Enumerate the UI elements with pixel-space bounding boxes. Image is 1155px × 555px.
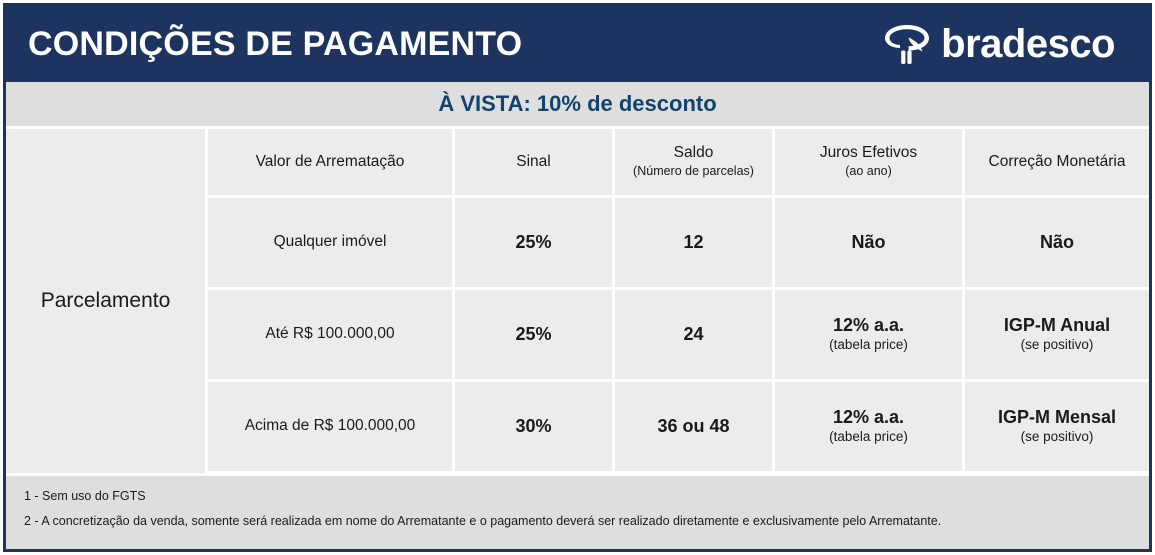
table-row: Até R$ 100.000,00 25% 24 12% a.a. (tabel… (208, 287, 1149, 379)
cell-juros-efetivos: 12% a.a. (tabela price) (772, 382, 962, 471)
cell-juros-efetivos: Não (772, 198, 962, 287)
column-header-main: Sinal (516, 153, 550, 172)
cell-main: Não (851, 232, 885, 254)
table-grid: Valor de Arrematação Sinal Saldo (Número… (208, 129, 1149, 473)
cell-valor-arrematacao: Qualquer imóvel (208, 198, 452, 287)
footnote-1: 1 - Sem uso do FGTS (24, 490, 1131, 504)
cell-juros-efetivos: 12% a.a. (tabela price) (772, 290, 962, 379)
discount-banner-text: À VISTA: 10% de desconto (438, 91, 716, 117)
cell-main: Não (1040, 232, 1074, 254)
discount-banner: À VISTA: 10% de desconto (6, 82, 1149, 129)
conditions-table: Parcelamento Valor de Arrematação Sinal … (6, 129, 1149, 473)
cell-main: 25% (515, 232, 551, 254)
payment-conditions-panel: CONDIÇÕES DE PAGAMENTO bradesco À VISTA:… (0, 0, 1155, 555)
cell-main: IGP-M Anual (1004, 315, 1110, 337)
column-header-sub: (Número de parcelas) (633, 164, 754, 180)
table-row: Acima de R$ 100.000,00 30% 36 ou 48 12% … (208, 379, 1149, 471)
panel-frame: CONDIÇÕES DE PAGAMENTO bradesco À VISTA:… (3, 3, 1152, 552)
cell-sinal: 30% (452, 382, 612, 471)
column-header-correcao-monetaria: Correção Monetária (962, 129, 1149, 195)
cell-main: 25% (515, 324, 551, 346)
bradesco-logo: bradesco (881, 20, 1127, 68)
column-header-sub: (ao ano) (845, 164, 892, 180)
column-header-saldo: Saldo (Número de parcelas) (612, 129, 772, 195)
cell-main: 30% (515, 416, 551, 438)
cell-correcao-monetaria: IGP-M Anual (se positivo) (962, 290, 1149, 379)
column-header-main: Valor de Arrematação (256, 153, 405, 172)
cell-main: 12 (683, 232, 703, 254)
column-header-main: Correção Monetária (989, 153, 1126, 172)
cell-sub: (se positivo) (1021, 429, 1094, 446)
column-header-main: Juros Efetivos (820, 144, 917, 163)
cell-main: 12% a.a. (833, 407, 904, 429)
cell-correcao-monetaria: IGP-M Mensal (se positivo) (962, 382, 1149, 471)
cell-valor-arrematacao: Até R$ 100.000,00 (208, 290, 452, 379)
cell-sinal: 25% (452, 198, 612, 287)
cell-sub: (tabela price) (829, 429, 908, 446)
column-header-main: Saldo (674, 144, 714, 163)
cell-main: Qualquer imóvel (274, 233, 387, 252)
cell-sub: (se positivo) (1021, 337, 1094, 354)
cell-main: 24 (683, 324, 703, 346)
cell-sub: (tabela price) (829, 337, 908, 354)
row-group-label-text: Parcelamento (41, 289, 171, 313)
table-row: Qualquer imóvel 25% 12 Não Não (208, 195, 1149, 287)
cell-saldo: 12 (612, 198, 772, 287)
cell-sinal: 25% (452, 290, 612, 379)
column-header-sinal: Sinal (452, 129, 612, 195)
cell-saldo: 24 (612, 290, 772, 379)
cell-valor-arrematacao: Acima de R$ 100.000,00 (208, 382, 452, 471)
page-title: CONDIÇÕES DE PAGAMENTO (28, 25, 522, 64)
cell-correcao-monetaria: Não (962, 198, 1149, 287)
column-header-valor-arrematacao: Valor de Arrematação (208, 129, 452, 195)
cell-saldo: 36 ou 48 (612, 382, 772, 471)
brand-name: bradesco (941, 24, 1115, 64)
footnote-2: 2 - A concretização da venda, somente se… (24, 515, 1131, 529)
column-header-juros-efetivos: Juros Efetivos (ao ano) (772, 129, 962, 195)
cell-main: 12% a.a. (833, 315, 904, 337)
table-row-group-label: Parcelamento (6, 129, 208, 473)
footnotes: 1 - Sem uso do FGTS 2 - A concretização … (6, 473, 1149, 549)
bradesco-tree-icon (881, 20, 933, 68)
cell-main: Acima de R$ 100.000,00 (245, 417, 416, 436)
table-header-row: Valor de Arrematação Sinal Saldo (Número… (208, 129, 1149, 195)
cell-main: Até R$ 100.000,00 (265, 325, 394, 344)
cell-main: IGP-M Mensal (998, 407, 1116, 429)
header-bar: CONDIÇÕES DE PAGAMENTO bradesco (6, 6, 1149, 82)
cell-main: 36 ou 48 (657, 416, 729, 438)
